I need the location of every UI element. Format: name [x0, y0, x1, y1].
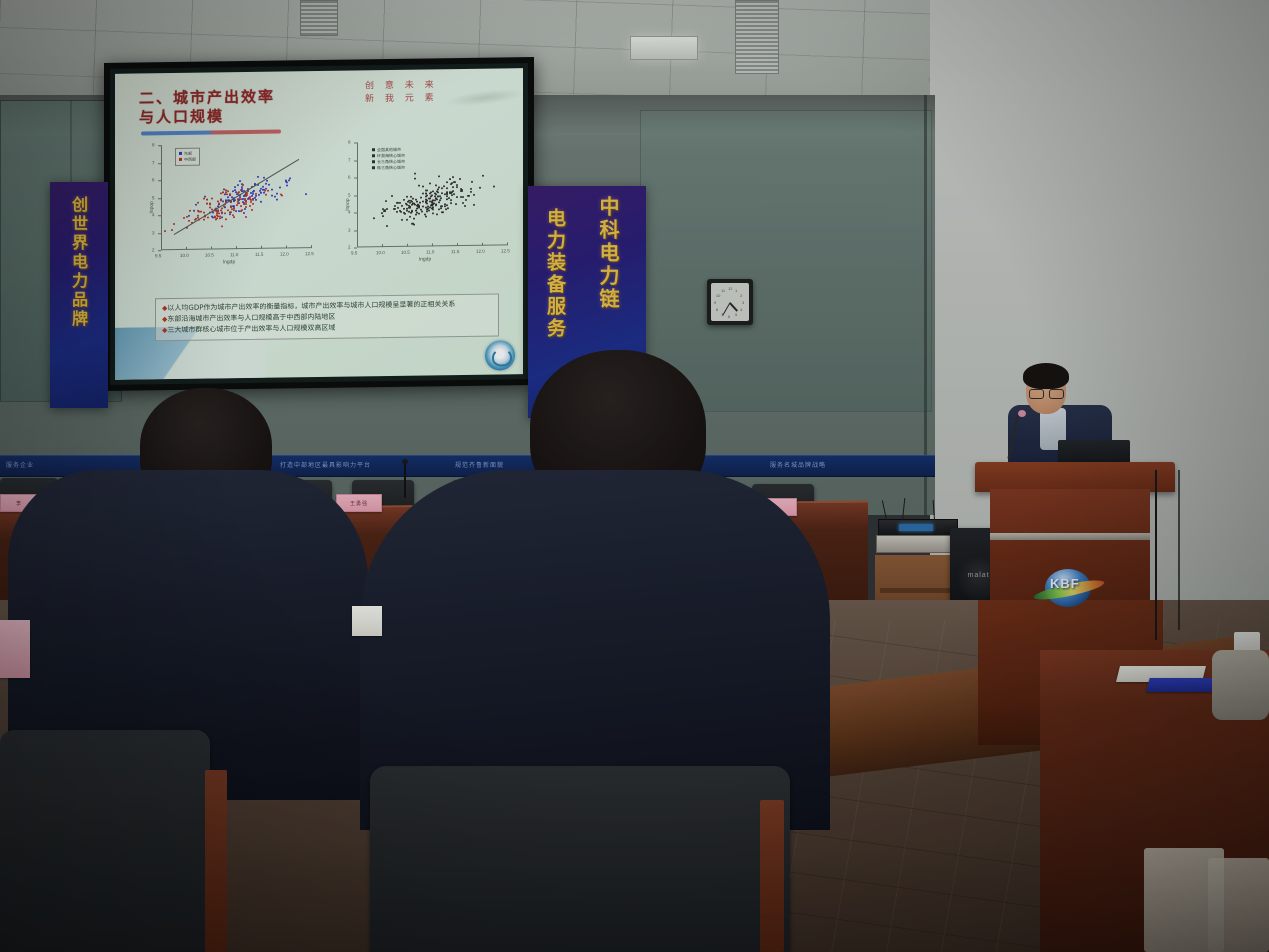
data-point [276, 198, 278, 200]
data-point [467, 195, 469, 197]
legend-swatch [179, 158, 182, 161]
y-tick [158, 163, 161, 164]
data-point [305, 194, 307, 196]
legend-label: 珠三角核心城市 [377, 165, 405, 170]
x-tick-label: 10.0 [376, 250, 385, 255]
data-point [393, 208, 395, 210]
data-point [470, 188, 472, 190]
data-point [240, 198, 242, 200]
clock-numeral: 12 [728, 286, 732, 291]
x-tick [407, 244, 408, 247]
y-tick [354, 230, 357, 231]
data-point [271, 195, 273, 197]
data-point [422, 201, 424, 203]
data-point [397, 207, 399, 209]
data-point [260, 200, 262, 202]
wall-clock: 121234567891011 [707, 279, 753, 325]
podium-laptop [1058, 440, 1130, 464]
data-point [252, 199, 254, 201]
y-tick [354, 177, 357, 178]
clock-numeral: 8 [716, 307, 718, 312]
data-point [164, 231, 166, 233]
x-tick-label: 11.5 [255, 252, 263, 257]
data-point [455, 203, 457, 205]
data-point [258, 194, 260, 196]
strip-segment: 服务企业 [6, 460, 34, 469]
data-point [252, 193, 254, 195]
x-tick-label: 11.5 [451, 249, 459, 254]
calligraphy-line1: 创 意 未 来 [365, 79, 438, 93]
data-point [450, 202, 452, 204]
data-point [211, 198, 213, 200]
data-point [197, 202, 199, 204]
y-tick [354, 160, 357, 161]
slide-title: 二、城市产出效率 与人口规模 [139, 88, 275, 128]
banner-left: 创世界电力品牌 [50, 182, 108, 408]
strip-segment: 打造中部地区最具影响力平台 [280, 460, 371, 469]
banner-left-text: 创世界电力品牌 [66, 196, 90, 329]
banner-right-back-text: 电力装备服务 [542, 208, 569, 340]
data-point [470, 191, 472, 193]
data-point [454, 182, 456, 184]
legend-label: 中西部 [184, 157, 196, 162]
x-tick [286, 245, 287, 248]
data-point [217, 200, 219, 202]
ceiling-air-vent [300, 0, 338, 36]
data-point [188, 220, 190, 222]
podium-top [975, 462, 1175, 492]
x-tick [186, 247, 187, 250]
legend-entry: 中西部 [179, 157, 196, 163]
legend-swatch [372, 155, 375, 158]
data-point [428, 209, 430, 211]
data-point [446, 181, 448, 183]
data-point [268, 184, 270, 186]
data-point [420, 197, 422, 199]
y-tick-label: 8 [348, 140, 351, 145]
data-point [446, 204, 448, 206]
data-point [460, 188, 462, 190]
data-point [245, 206, 247, 208]
data-point [426, 202, 428, 204]
data-point [416, 201, 418, 203]
data-point [441, 187, 443, 189]
calligraphy-line2: 新 我 元 素 [365, 92, 438, 106]
data-point [493, 186, 495, 188]
data-point [386, 225, 388, 227]
data-point [193, 210, 195, 212]
clock-numeral: 7 [721, 312, 723, 317]
data-point [267, 190, 269, 192]
legend-swatch [179, 152, 182, 155]
y-tick-label: 3 [348, 227, 351, 232]
data-point [441, 192, 443, 194]
data-point [243, 212, 245, 214]
data-point [233, 216, 235, 218]
data-point [251, 209, 253, 211]
data-point [429, 183, 431, 185]
data-point [403, 208, 405, 210]
banner-right-front-text: 中科电力链 [594, 196, 623, 311]
y-tick [354, 247, 357, 248]
data-point [235, 210, 237, 212]
clock-numeral: 3 [742, 300, 744, 305]
clock-numeral: 4 [740, 307, 742, 312]
name-card-text: 李 [16, 500, 22, 507]
data-point [239, 180, 241, 182]
glass-partition [640, 110, 932, 412]
desk-microphone [404, 462, 406, 498]
data-point [414, 173, 416, 175]
institution-logo-icon [485, 340, 515, 370]
data-point [173, 223, 175, 225]
data-point [406, 219, 408, 221]
y-tick-label: 2 [348, 245, 351, 250]
conference-room-photo: 二、城市产出效率 与人口规模 创 意 未 来 新 我 元 素 lnpop lng… [0, 0, 1269, 952]
strip-segment: 服务名城品牌战略 [770, 460, 826, 469]
data-point [381, 212, 383, 214]
data-point [435, 184, 437, 186]
x-tick-label: 12.0 [280, 251, 289, 256]
data-point [408, 210, 410, 212]
legend-label: 环渤海核心城市 [377, 153, 405, 158]
chair-armrest [760, 800, 784, 952]
clock-face: 121234567891011 [711, 283, 749, 321]
data-point [431, 207, 433, 209]
legend-label: 全国其他城市 [377, 147, 401, 152]
data-point [281, 194, 283, 196]
y-tick [158, 145, 161, 146]
data-point [373, 217, 375, 219]
data-point [440, 207, 442, 209]
legend-entry: 珠三角核心城市 [372, 165, 405, 171]
x-axis-label: lngdp [419, 256, 431, 262]
data-point [242, 184, 244, 186]
receiver-display [899, 524, 933, 531]
y-tick-label: 2 [152, 247, 155, 252]
data-point [257, 176, 259, 178]
x-tick [236, 246, 237, 249]
x-tick [507, 242, 508, 245]
clock-numeral: 1 [735, 288, 737, 293]
data-point [425, 215, 427, 217]
data-point [436, 190, 438, 192]
data-point [394, 205, 396, 207]
clock-numeral: 6 [728, 314, 730, 319]
data-point [227, 209, 229, 211]
data-point [221, 213, 223, 215]
y-tick-label: 4 [152, 212, 155, 217]
data-point [234, 186, 236, 188]
y-tick [158, 250, 161, 251]
data-point [203, 211, 205, 213]
amplifier-unit[interactable] [876, 535, 958, 553]
clock-numeral: 10 [716, 293, 720, 298]
bullet-text: 东部沿海城市产出效率与人口规模高于中西部内陆地区 [167, 313, 335, 323]
data-point [216, 217, 218, 219]
name-card-text: 王勇强 [350, 500, 368, 507]
data-point [206, 198, 208, 200]
data-point [224, 212, 226, 214]
slide-title-line1: 二、城市产出效率 [139, 88, 275, 109]
x-tick [432, 243, 433, 246]
scatter-plot-right: lnpop lngdp 全国其他城市环渤海核心城市长三角核心城市珠三角核心城市 … [357, 140, 507, 247]
blue-folder [1146, 678, 1221, 692]
data-point [413, 203, 415, 205]
data-point [276, 193, 278, 195]
data-point [245, 203, 247, 205]
scatter-plot-left: lnpop lngdp 东部中西部 9.510.010.511.011.512.… [161, 143, 311, 250]
data-point [171, 229, 173, 231]
data-point [285, 179, 287, 181]
presenter-hair [1023, 363, 1069, 389]
data-point [400, 211, 402, 213]
x-tick [161, 247, 162, 250]
data-point [216, 214, 218, 216]
data-point [413, 218, 415, 220]
x-tick-label: 12.0 [476, 249, 485, 254]
x-tick [357, 244, 358, 247]
data-point [183, 217, 185, 219]
x-tick-label: 11.0 [230, 252, 238, 257]
data-point [456, 196, 458, 198]
x-tick-label: 12.5 [305, 251, 314, 256]
data-point [450, 199, 452, 201]
data-point [435, 193, 437, 195]
data-point [219, 217, 221, 219]
data-point [479, 186, 481, 188]
data-point [473, 204, 475, 206]
data-point [249, 205, 251, 207]
data-point [409, 216, 411, 218]
data-point [426, 189, 428, 191]
data-point [209, 203, 211, 205]
strip-segment: 规范齐鲁新面貌 [455, 460, 504, 469]
clock-numeral: 2 [740, 293, 742, 298]
legend-swatch [372, 167, 375, 170]
x-tick [261, 246, 262, 249]
data-point [446, 187, 448, 189]
data-point [419, 201, 421, 203]
data-point [225, 218, 227, 220]
data-point [203, 198, 205, 200]
y-tick [354, 195, 357, 196]
data-point [240, 205, 242, 207]
data-point [435, 197, 437, 199]
data-point [237, 184, 239, 186]
data-point [391, 194, 393, 196]
data-point [386, 208, 388, 210]
data-point [209, 206, 211, 208]
data-point [241, 209, 243, 211]
data-point [426, 194, 428, 196]
title-underline-bar [141, 130, 281, 136]
data-point [435, 205, 437, 207]
data-point [465, 199, 467, 201]
data-point [207, 216, 209, 218]
x-tick [482, 243, 483, 246]
data-point [482, 175, 484, 177]
data-point [437, 192, 439, 194]
data-point [462, 202, 464, 204]
podium-logo-text: KBF [1050, 576, 1080, 591]
y-tick [158, 180, 161, 181]
x-tick [457, 243, 458, 246]
slide-calligraphy: 创 意 未 来 新 我 元 素 [365, 79, 438, 106]
data-point [220, 192, 222, 194]
data-point [422, 205, 424, 207]
data-point [432, 213, 434, 215]
wall-seam [924, 95, 927, 515]
data-point [404, 213, 406, 215]
data-point [226, 193, 228, 195]
data-point [425, 193, 427, 195]
x-tick-label: 10.0 [180, 253, 189, 258]
data-point [462, 196, 464, 198]
microphone-head-icon [1018, 410, 1026, 417]
paper-sheet [352, 606, 382, 636]
data-point [411, 211, 413, 213]
x-tick-label: 10.5 [205, 252, 214, 257]
data-point [255, 193, 257, 195]
chart-legend-right: 全国其他城市环渤海核心城市长三角核心城市珠三角核心城市 [369, 145, 408, 174]
data-point [440, 197, 442, 199]
data-point [265, 194, 267, 196]
projection-screen: 二、城市产出效率 与人口规模 创 意 未 来 新 我 元 素 lnpop lng… [104, 57, 534, 391]
clock-numeral: 5 [735, 312, 737, 317]
data-point [255, 199, 257, 201]
data-point [385, 200, 387, 202]
y-tick-label: 3 [152, 230, 155, 235]
data-point [436, 213, 438, 215]
data-point [396, 211, 398, 213]
data-point [443, 186, 445, 188]
data-point [286, 181, 288, 183]
bullet-text: 三大城市群核心城市位于产出效率与人口规模双高区域 [167, 324, 335, 334]
foreground-chair [0, 730, 210, 952]
shopping-bag [1208, 858, 1269, 952]
data-point [227, 190, 229, 192]
chair-armrest [205, 770, 227, 952]
y-axis [357, 142, 358, 247]
clock-hour-hand [729, 302, 738, 311]
data-point [473, 193, 475, 195]
data-point [401, 205, 403, 207]
data-point [442, 211, 444, 213]
data-point [422, 186, 424, 188]
y-tick-label: 7 [348, 157, 351, 162]
data-point [452, 186, 454, 188]
legend-label: 长三角核心城市 [377, 159, 405, 164]
y-tick-label: 7 [152, 160, 155, 165]
data-point [236, 205, 238, 207]
data-point [279, 187, 281, 189]
podium-logo: KBF [1033, 565, 1105, 611]
data-point [401, 219, 403, 221]
legend-swatch [372, 161, 375, 164]
data-point [232, 214, 234, 216]
x-tick-label: 11.0 [426, 249, 434, 254]
data-point [203, 219, 205, 221]
y-tick-label: 4 [348, 210, 351, 215]
x-tick-label: 9.5 [155, 253, 161, 258]
data-point [286, 185, 288, 187]
x-tick-label: 9.5 [351, 250, 357, 255]
y-tick [354, 212, 357, 213]
data-point [451, 182, 453, 184]
clock-numeral: 9 [714, 300, 716, 305]
data-point [403, 199, 405, 201]
legend-label: 东部 [184, 151, 192, 156]
presentation-slide: 二、城市产出效率 与人口规模 创 意 未 来 新 我 元 素 lnpop lng… [115, 68, 523, 380]
data-point [399, 202, 401, 204]
data-point [459, 178, 461, 180]
data-point [230, 201, 232, 203]
data-point [421, 211, 423, 213]
x-tick [211, 246, 212, 249]
y-axis [161, 145, 162, 250]
chart-legend-left: 东部中西部 [175, 148, 200, 166]
regression-line [173, 159, 299, 235]
y-tick-label: 6 [348, 175, 351, 180]
data-point [271, 189, 273, 191]
bullet-text: 以人均GDP作为城市产出效率的衡量指标，城市产出效率与城市人口规模呈显著的正相关… [167, 300, 455, 312]
ceiling-light [630, 36, 698, 60]
data-point [414, 177, 416, 179]
wireless-mic-receiver[interactable] [878, 519, 958, 536]
y-tick [158, 233, 161, 234]
data-point [382, 215, 384, 217]
data-point [245, 200, 247, 202]
data-point [460, 190, 462, 192]
clock-numeral: 11 [721, 288, 725, 293]
data-point [288, 179, 290, 181]
data-point [447, 207, 449, 209]
data-point [429, 200, 431, 202]
legend-swatch [372, 149, 375, 152]
x-tick-label: 12.5 [501, 248, 510, 253]
y-tick-label: 5 [152, 195, 155, 200]
y-tick [158, 215, 161, 216]
data-point [252, 203, 254, 205]
brush-stroke-decoration [444, 86, 523, 109]
data-point [446, 193, 448, 195]
data-point [264, 189, 266, 191]
data-point [221, 225, 223, 227]
data-point [471, 181, 473, 183]
glasses-icon [1029, 389, 1063, 397]
x-axis-label: lngdp [223, 259, 235, 265]
podium-trim-band [990, 533, 1150, 540]
data-point [438, 175, 440, 177]
slide-bullet-box: ◆以人均GDP作为城市产出效率的衡量指标，城市产出效率与城市人口规模呈显著的正相… [155, 293, 499, 341]
data-point [426, 199, 428, 201]
pink-document [0, 620, 30, 678]
y-tick [158, 198, 161, 199]
data-point [189, 210, 191, 212]
data-point [245, 216, 247, 218]
x-tick-label: 10.5 [401, 250, 410, 255]
slide-title-line2: 与人口规模 [139, 107, 275, 128]
data-point [449, 178, 451, 180]
data-point [260, 192, 262, 194]
av-table-shelf [880, 588, 956, 593]
data-point [453, 193, 455, 195]
data-point [418, 213, 420, 215]
data-point [211, 215, 213, 217]
data-point [262, 186, 264, 188]
data-point [406, 196, 408, 198]
